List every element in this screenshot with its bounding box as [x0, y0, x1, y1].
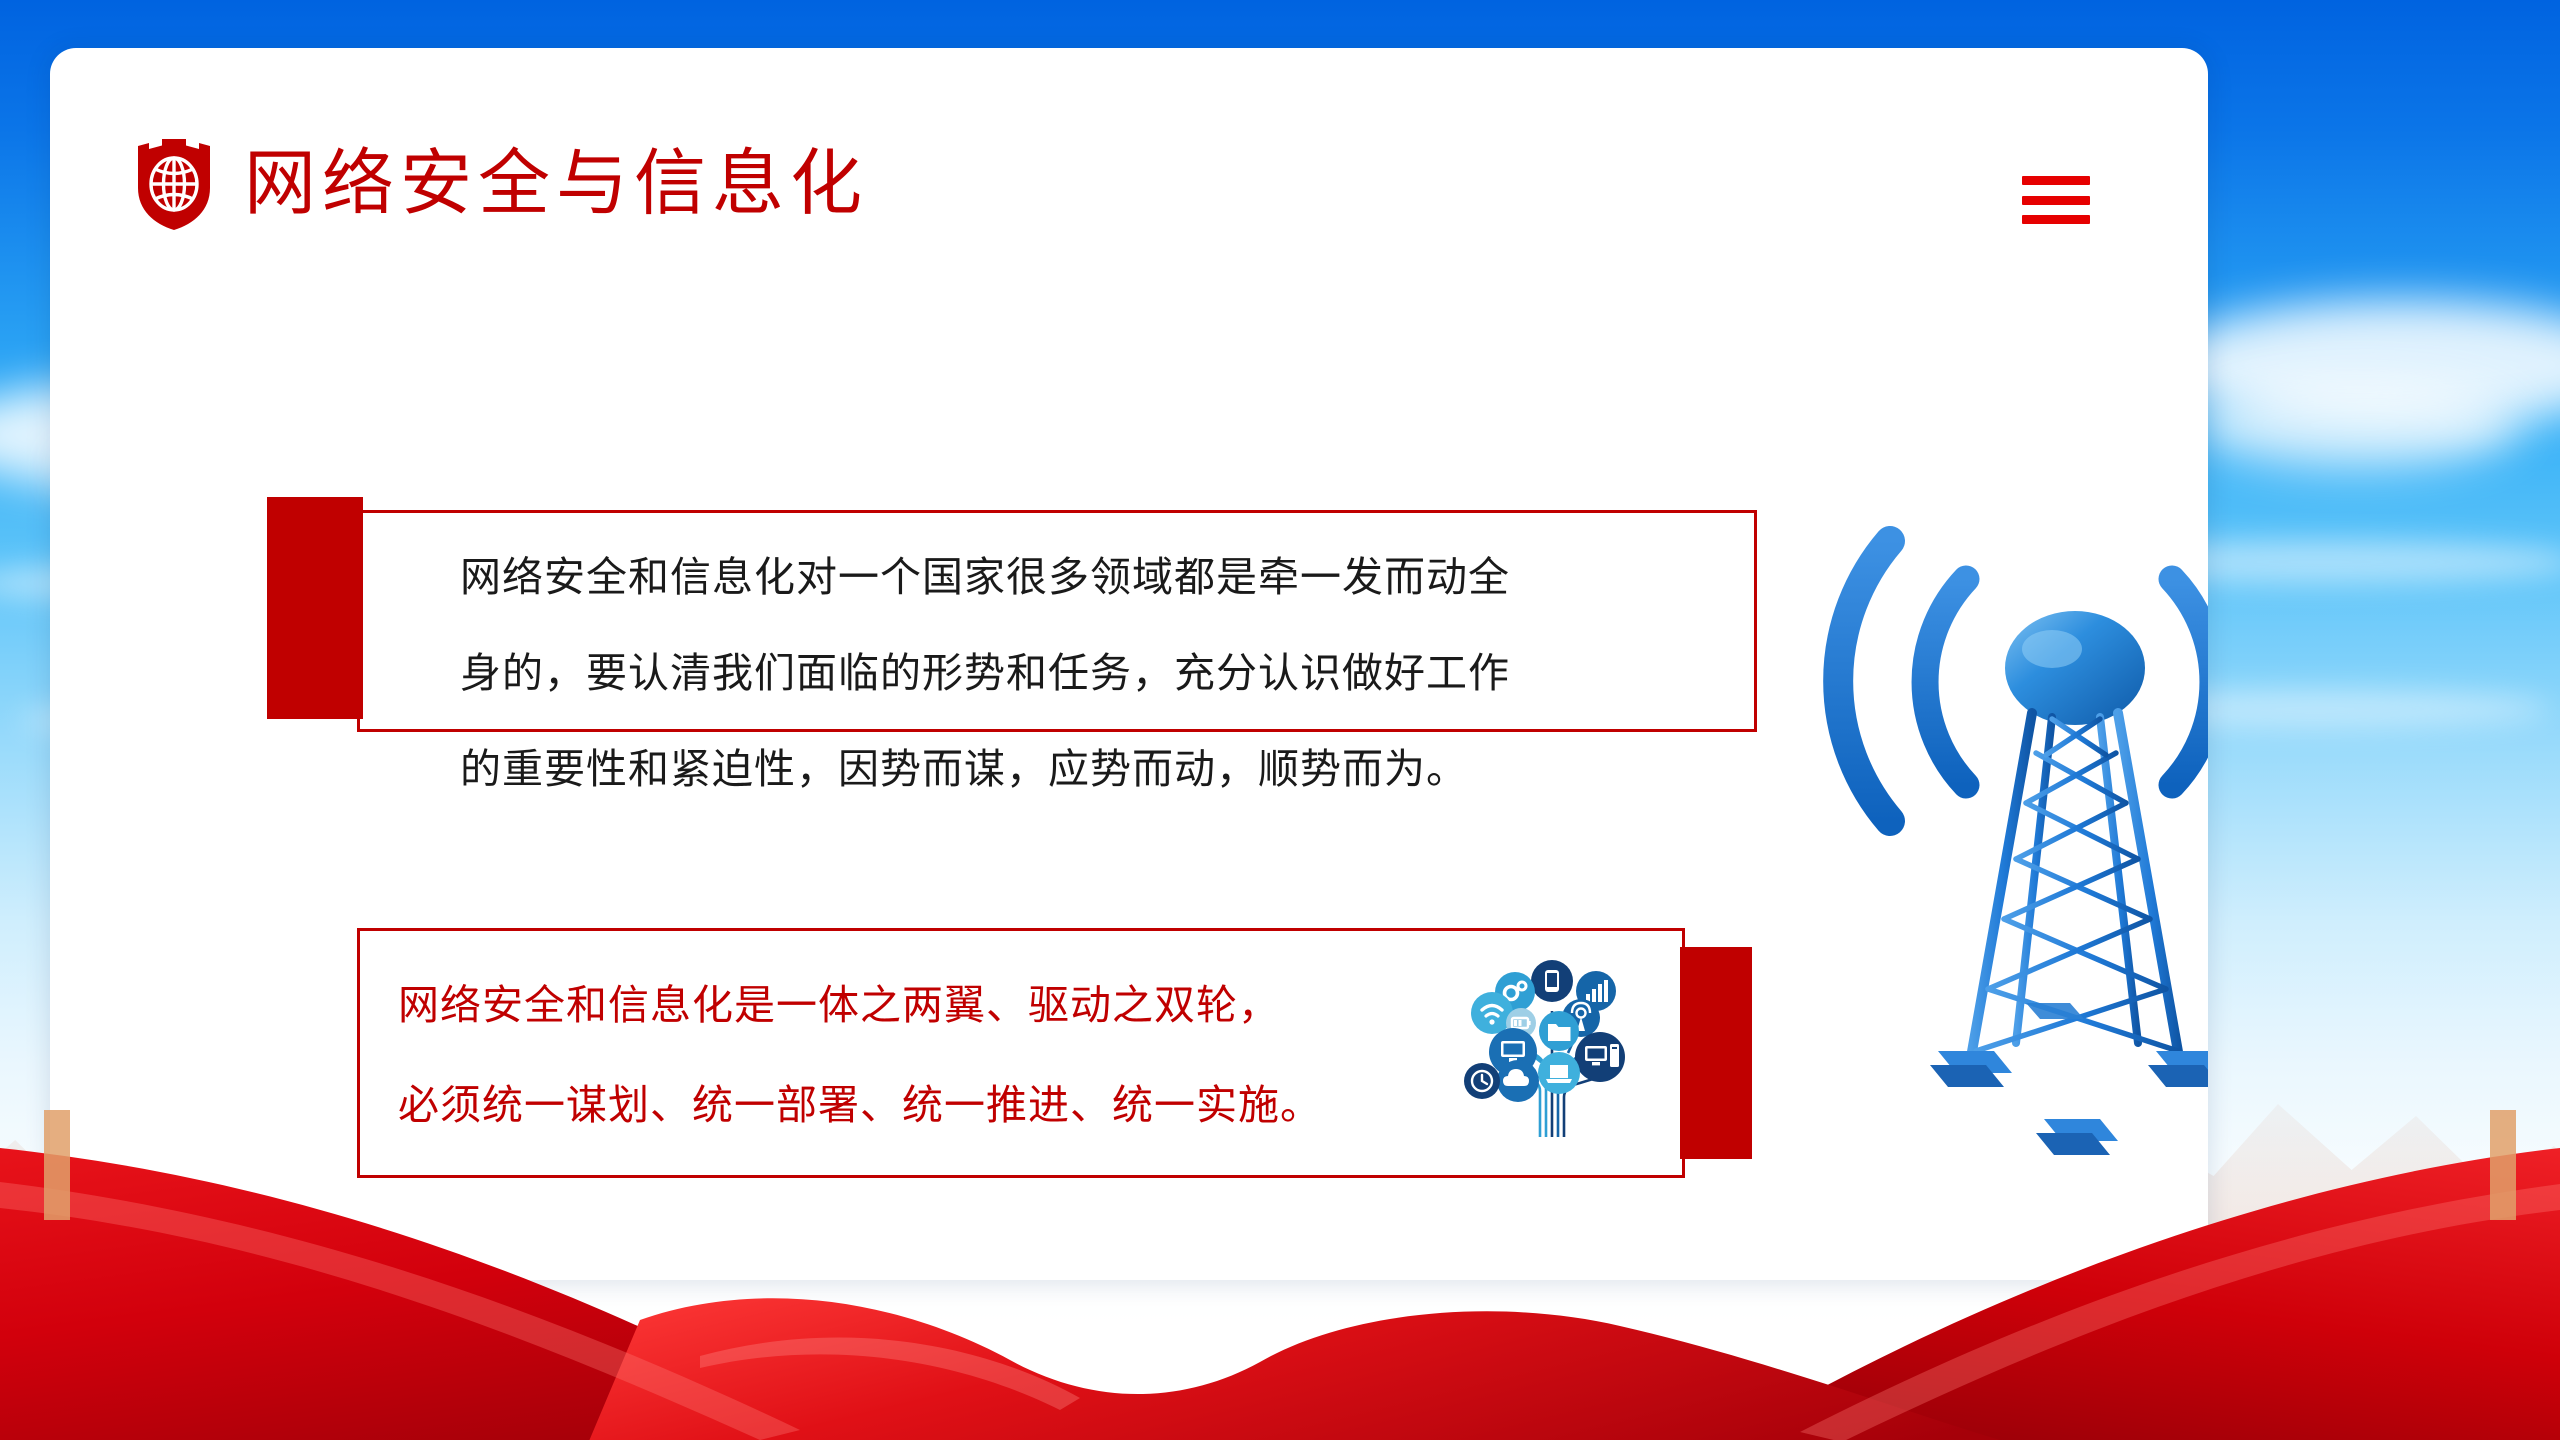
node-cloud-icon — [1497, 1060, 1539, 1102]
node-desktop-tower-icon — [1575, 1032, 1625, 1082]
card-header: 网络安全与信息化 — [50, 48, 2208, 238]
menu-bar-2 — [2022, 196, 2090, 205]
quote-line: 必须统一谋划、统一部署、统一推进、统一实施。 — [398, 1055, 1322, 1155]
page-title: 网络安全与信息化 — [244, 148, 868, 220]
quote-accent-block-left — [267, 497, 363, 719]
node-laptop-icon — [1538, 1052, 1580, 1094]
brand-lockup: 网络安全与信息化 — [132, 136, 868, 232]
menu-bar-3 — [2022, 215, 2090, 224]
menu-bar-1 — [2022, 176, 2090, 185]
tower-dome — [2005, 611, 2145, 725]
technology-tree-illustration — [1460, 941, 1640, 1139]
quote-secondary-text: 网络安全和信息化是一体之两翼、驱动之双轮， 必须统一谋划、统一部署、统一推进、统… — [398, 955, 1322, 1155]
quote-box-primary: 网络安全和信息化对一个国家很多领域都是牵一发而动全 身的，要认清我们面临的形势和… — [357, 510, 1757, 732]
quote-line: 网络安全和信息化对一个国家很多领域都是牵一发而动全 — [460, 529, 1716, 625]
shield-globe-icon — [132, 136, 216, 232]
quote-accent-block-right — [1680, 947, 1752, 1159]
node-clock-icon — [1464, 1063, 1500, 1099]
node-folder-icon — [1539, 1011, 1579, 1051]
node-smartphone-icon — [1531, 960, 1573, 1002]
hamburger-menu-icon[interactable] — [2022, 176, 2090, 224]
node-wifi-icon — [1471, 992, 1513, 1034]
quote-primary-text: 网络安全和信息化对一个国家很多领域都是牵一发而动全 身的，要认清我们面临的形势和… — [460, 529, 1716, 817]
quote-line: 身的，要认清我们面临的形势和任务，充分认识做好工作 — [460, 625, 1716, 721]
quote-line: 网络安全和信息化是一体之两翼、驱动之双轮， — [398, 955, 1322, 1055]
quote-line: 的重要性和紧迫性，因势而谋，应势而动，顺势而为。 — [460, 721, 1716, 817]
content-card: 网络安全与信息化 网络安全和信息化对一个国家很多领域都是牵一发而动全 身的，要认… — [50, 48, 2208, 1280]
cloud-wisp — [2190, 380, 2520, 470]
broadcast-tower-illustration — [1820, 503, 2208, 1193]
